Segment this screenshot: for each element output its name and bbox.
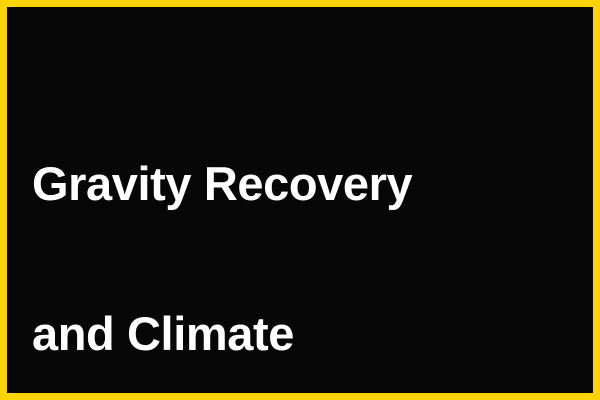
title-line-1: Gravity Recovery — [32, 159, 585, 209]
card-stage: Gravity Recovery and Climate Experiment … — [7, 7, 593, 393]
title-line-2: and Climate — [32, 309, 585, 359]
title-card: Gravity Recovery and Climate Experiment … — [0, 0, 600, 400]
title-text-block: Gravity Recovery and Climate Experiment … — [32, 59, 585, 393]
page-title: Gravity Recovery and Climate Experiment — [32, 59, 585, 393]
